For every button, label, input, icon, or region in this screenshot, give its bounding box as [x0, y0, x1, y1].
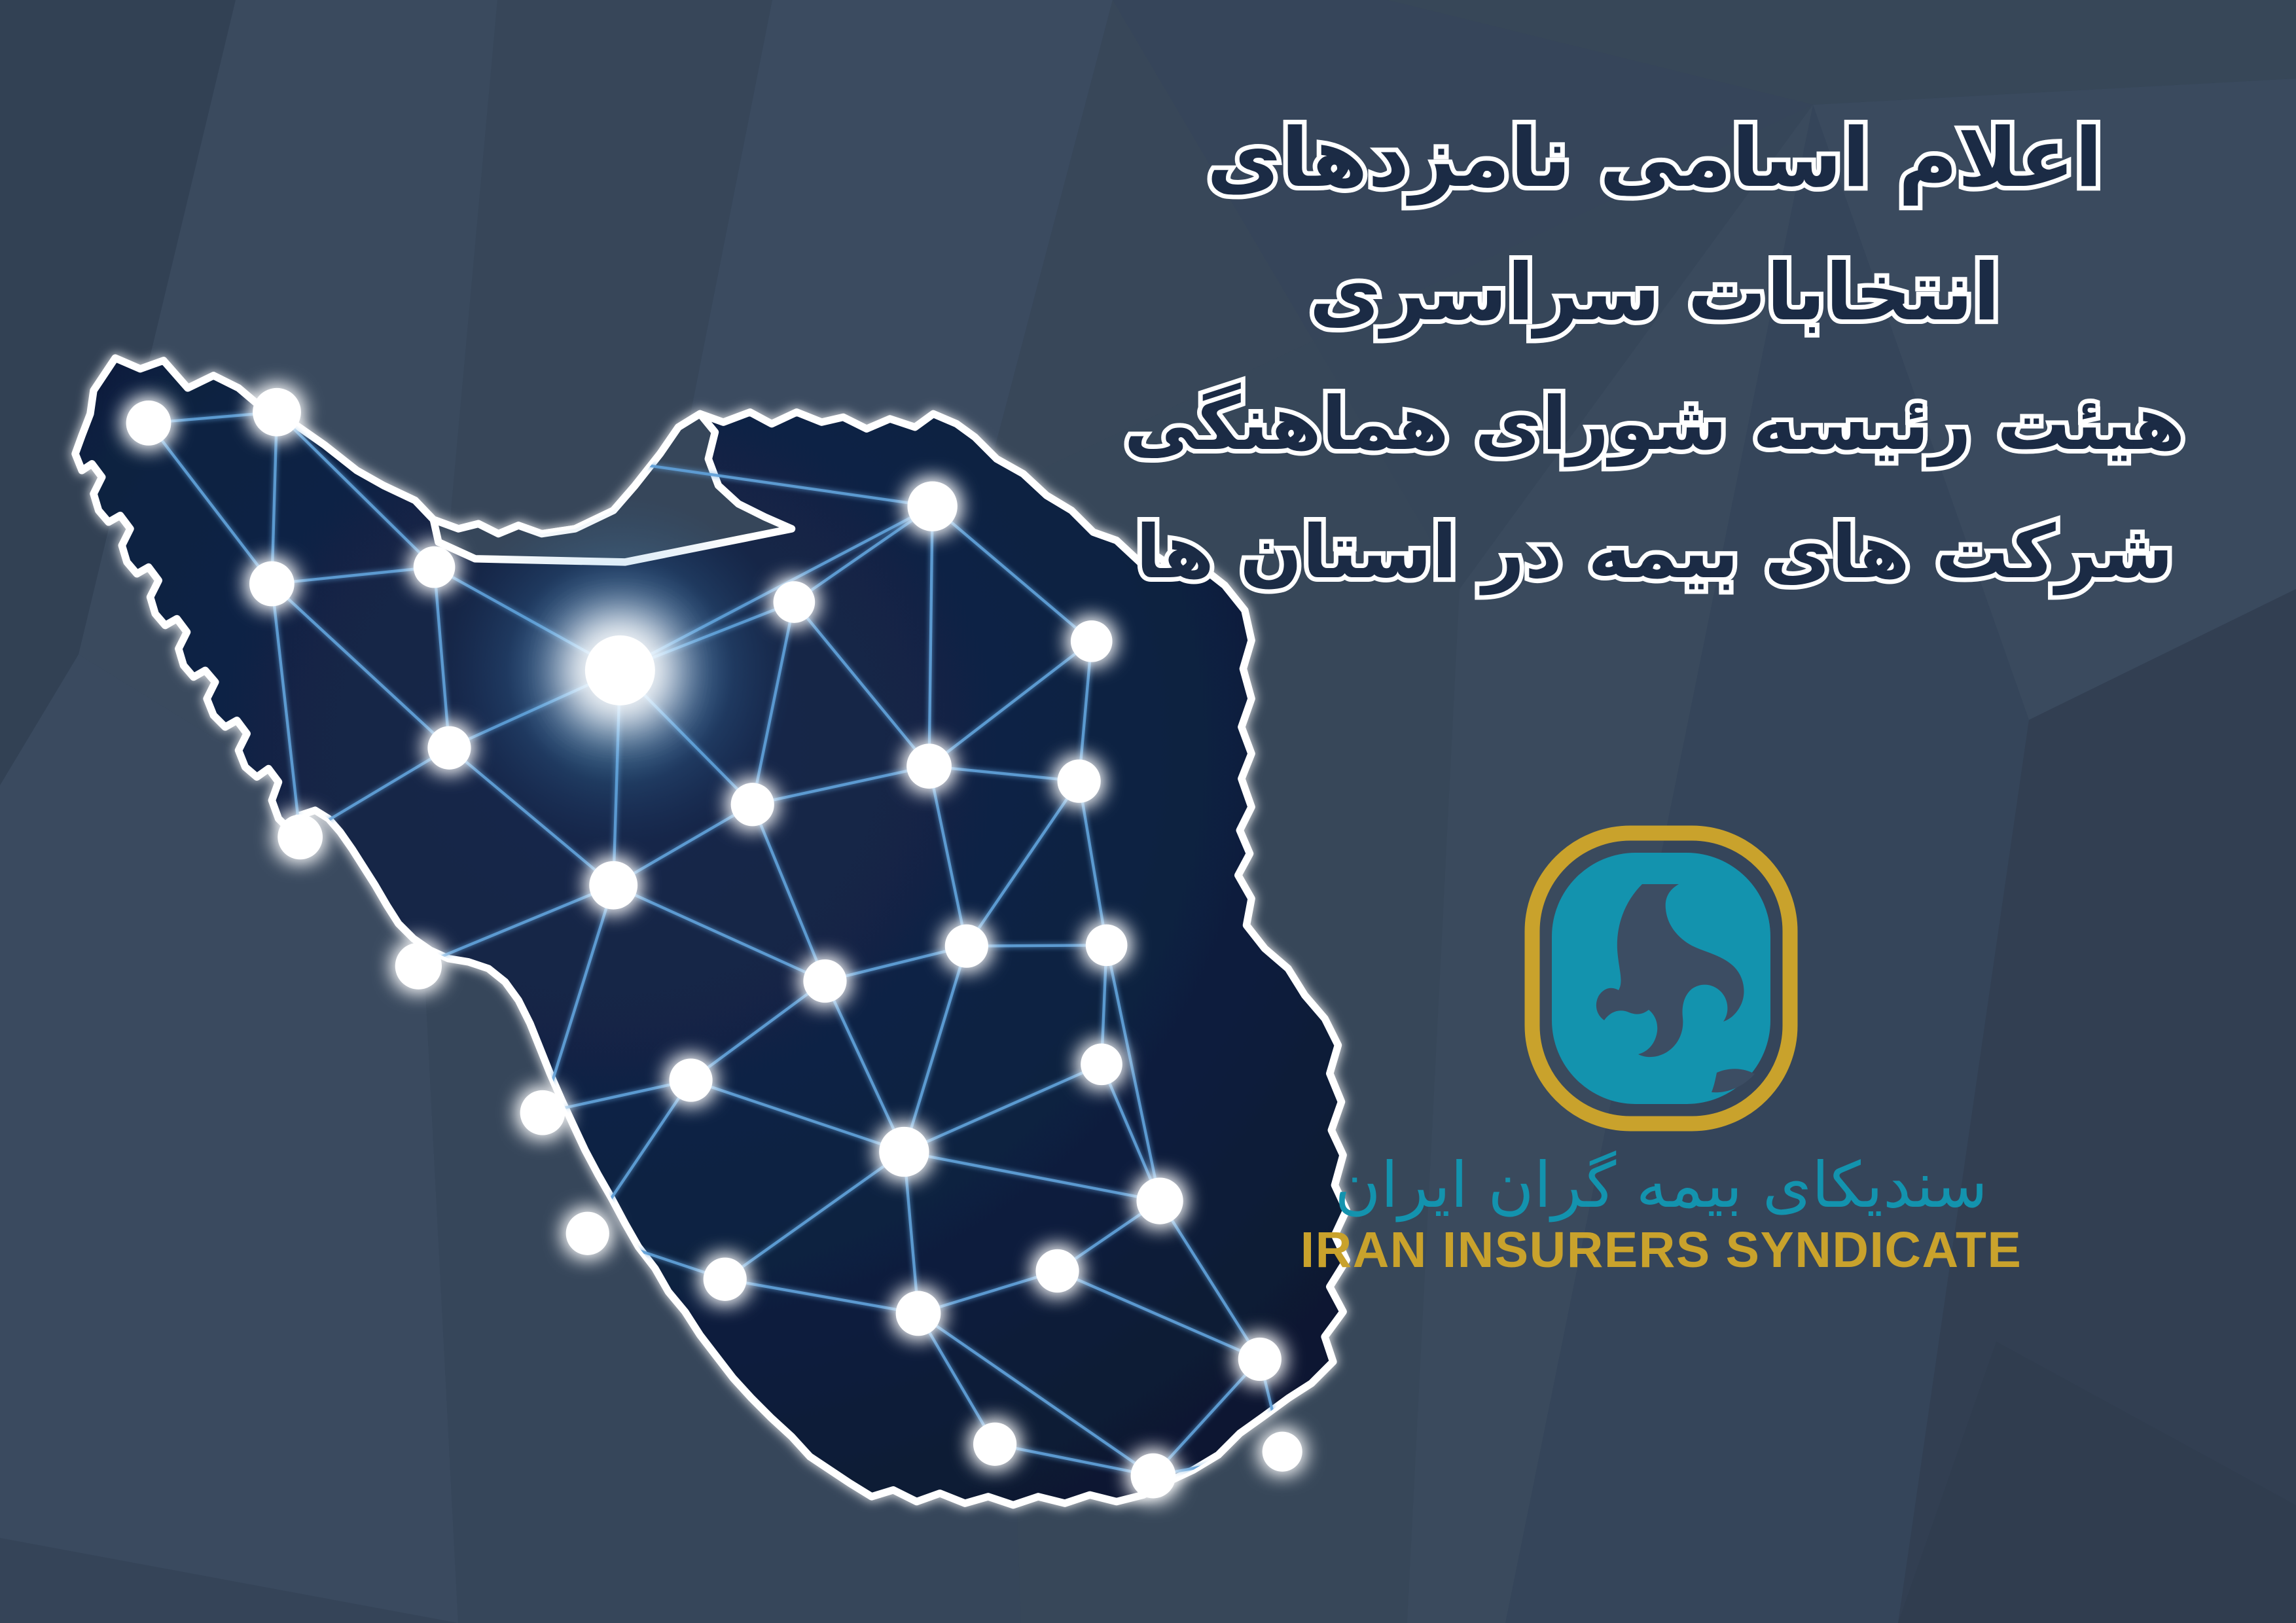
network-node-n6 — [774, 581, 816, 623]
network-node-n30 — [1131, 1454, 1176, 1499]
network-node-n15 — [395, 943, 442, 990]
network-node-n3 — [414, 546, 456, 588]
network-node-n22 — [879, 1127, 929, 1177]
network-node-n14 — [589, 861, 637, 910]
network-node-n1 — [126, 401, 171, 446]
network-node-n31 — [1263, 1432, 1302, 1472]
network-node-n26 — [1035, 1249, 1079, 1293]
network-node-n27 — [896, 1291, 941, 1336]
network-node-n25 — [704, 1258, 747, 1301]
network-node-n20 — [669, 1058, 712, 1101]
headline-line-2: انتخابات سراسری — [1118, 254, 2191, 332]
network-node-n19 — [1081, 1044, 1122, 1086]
network-node-n2 — [253, 388, 301, 437]
network-node-n5 — [907, 481, 957, 531]
network-node-n21 — [520, 1090, 565, 1135]
network-node-n28 — [1238, 1338, 1282, 1381]
network-node-n17 — [1086, 925, 1128, 967]
poster-root: اعلام اسامی نامزدهای انتخابات سراسری هیئ… — [0, 0, 2296, 1623]
headline-line-4: شرکت های بیمه در استان ها — [1118, 516, 2191, 589]
headline-block: اعلام اسامی نامزدهای انتخابات سراسری هیئ… — [1118, 118, 2191, 589]
network-node-n9 — [427, 726, 471, 770]
network-node-n12 — [731, 783, 774, 826]
headline-line-1: اعلام اسامی نامزدهای — [1118, 118, 2191, 199]
network-node-tehran — [585, 635, 655, 705]
network-node-n11 — [1058, 760, 1101, 803]
logo-persian-name: سندیکای بیمه گران ایران — [1216, 1152, 2106, 1219]
network-node-n18 — [803, 959, 846, 1003]
network-node-n4 — [249, 562, 295, 607]
network-node-n8 — [1071, 620, 1113, 662]
network-node-n23 — [566, 1212, 609, 1255]
syndicate-logo-block: سندیکای بیمه گران ایران IRAN INSURERS SY… — [1216, 821, 2106, 1279]
network-node-n10 — [906, 743, 952, 789]
network-node-n16 — [945, 925, 988, 968]
network-node-n24 — [1136, 1177, 1183, 1224]
syndicate-emblem-icon — [1520, 821, 1802, 1135]
headline-line-3: هیئت رئیسه شورای هماهنگی — [1118, 387, 2191, 461]
logo-english-name: IRAN INSURERS SYNDICATE — [1216, 1221, 2106, 1279]
emblem-bird-tail — [1712, 1069, 1755, 1092]
network-node-n29 — [973, 1423, 1016, 1466]
network-node-n13 — [278, 815, 323, 860]
